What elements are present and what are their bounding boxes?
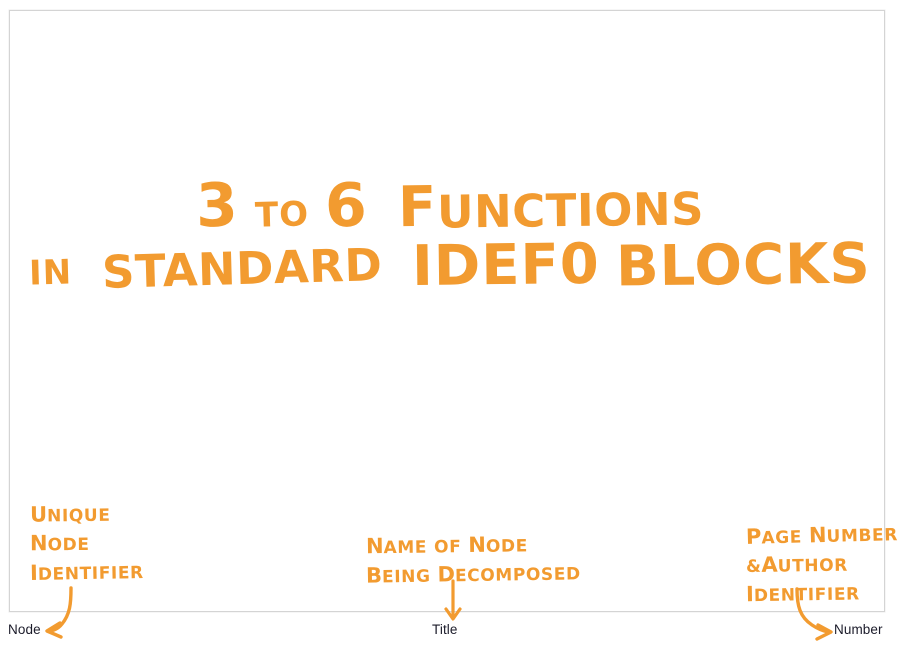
footer-field-title: Title — [432, 622, 458, 637]
diagram-canvas: 3TO6FUNCTIONS INSTANDARDIDEF0BLOCKS UNIQ… — [0, 0, 900, 648]
footer-field-number: Number — [834, 622, 883, 637]
footer-field-node: Node — [8, 622, 41, 637]
idef0-page-frame — [9, 10, 885, 612]
